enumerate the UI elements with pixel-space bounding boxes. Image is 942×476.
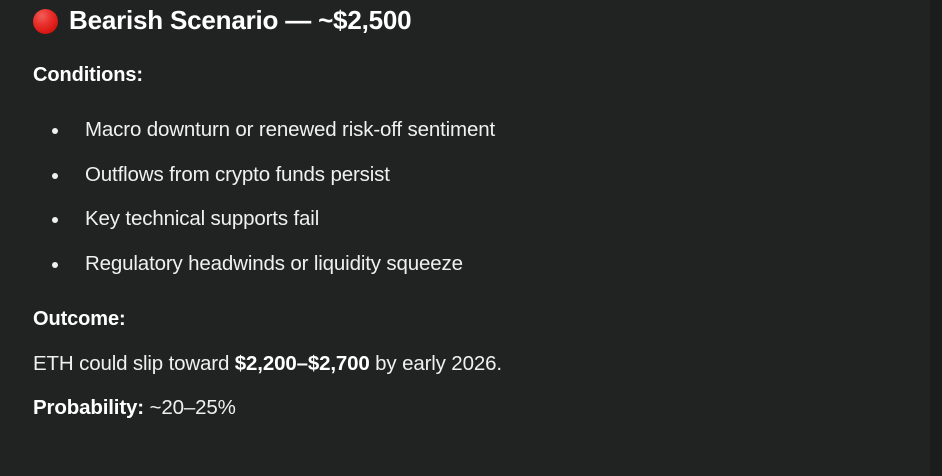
list-item-label: Outflows from crypto funds persist — [85, 163, 390, 186]
outcome-heading: Outcome: — [33, 308, 126, 331]
list-item: Regulatory headwinds or liquidity squeez… — [33, 248, 495, 293]
right-edge-gutter — [930, 0, 942, 476]
outcome-text-before: ETH could slip toward — [33, 352, 235, 375]
probability-value: ~20–25% — [144, 396, 236, 419]
list-item-label: Regulatory headwinds or liquidity squeez… — [85, 252, 463, 275]
scenario-title-row: Bearish Scenario — ~$2,500 — [33, 6, 411, 35]
bullet-dot-icon — [52, 217, 58, 223]
list-item: Macro downturn or renewed risk-off senti… — [33, 114, 495, 159]
red-circle-icon — [33, 9, 58, 34]
outcome-text-after: by early 2026. — [370, 352, 502, 375]
outcome-price-range: $2,200–$2,700 — [235, 352, 370, 375]
probability-line: Probability: ~20–25% — [33, 396, 236, 420]
bullet-dot-icon — [52, 262, 58, 268]
bullet-dot-icon — [52, 128, 58, 134]
list-item-label: Macro downturn or renewed risk-off senti… — [85, 118, 495, 141]
page-title: Bearish Scenario — ~$2,500 — [69, 6, 411, 35]
card-content: Bearish Scenario — ~$2,500 Conditions: M… — [33, 0, 930, 476]
conditions-heading: Conditions: — [33, 64, 143, 87]
bullet-dot-icon — [52, 173, 58, 179]
list-item-label: Key technical supports fail — [85, 207, 319, 230]
probability-label: Probability: — [33, 396, 144, 419]
list-item: Key technical supports fail — [33, 203, 495, 248]
outcome-text: ETH could slip toward $2,200–$2,700 by e… — [33, 352, 502, 376]
conditions-list: Macro downturn or renewed risk-off senti… — [33, 114, 495, 292]
list-item: Outflows from crypto funds persist — [33, 159, 495, 204]
bearish-scenario-card: Bearish Scenario — ~$2,500 Conditions: M… — [0, 0, 942, 476]
